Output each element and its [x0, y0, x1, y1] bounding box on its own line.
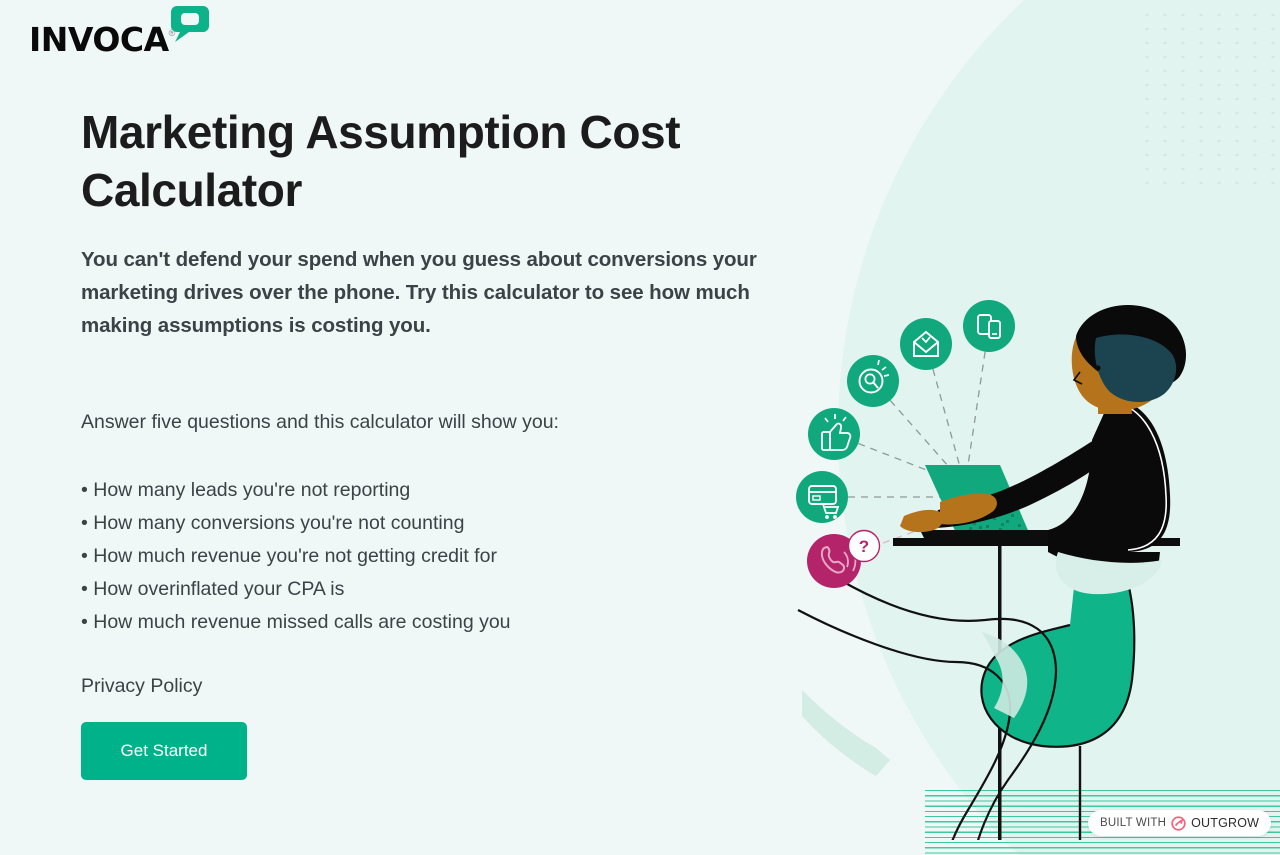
benefit-list: How many leads you're not reporting How …	[81, 474, 781, 639]
logo-wordmark: INVOCA	[29, 23, 169, 56]
hero-lead-paragraph: You can't defend your spend when you gue…	[81, 243, 791, 342]
background-dot-grid	[1138, 8, 1280, 190]
get-started-button[interactable]: Get Started	[81, 722, 247, 780]
search-target-icon	[847, 355, 899, 407]
devices-icon	[963, 300, 1015, 352]
invoca-logo[interactable]: INVOCA ®	[29, 16, 221, 56]
outgrow-logo-icon	[1171, 816, 1186, 831]
list-item: How many leads you're not reporting	[81, 474, 781, 507]
privacy-policy-link[interactable]: Privacy Policy	[81, 672, 202, 700]
open-envelope-icon	[900, 318, 952, 370]
hero-content: INVOCA ® Marketing Assumption Cost Calcu…	[0, 0, 840, 855]
outgrow-label: OUTGROW	[1191, 816, 1259, 830]
built-with-outgrow-badge[interactable]: BUILT WITH OUTGROW	[1088, 810, 1271, 836]
question-badge: ?	[849, 531, 880, 562]
list-item: How overinflated your CPA is	[81, 573, 781, 606]
list-item: How much revenue missed calls are costin…	[81, 606, 781, 639]
speech-bubble-icon	[169, 4, 211, 44]
page-title: Marketing Assumption Cost Calculator	[81, 103, 781, 219]
hero-illustration: ?	[780, 280, 1280, 840]
list-item: How many conversions you're not counting	[81, 507, 781, 540]
list-item: How much revenue you're not getting cred…	[81, 540, 781, 573]
built-with-label: BUILT WITH	[1100, 817, 1166, 829]
question-mark-glyph: ?	[859, 537, 869, 556]
hero-subheading: Answer five questions and this calculato…	[81, 408, 781, 436]
